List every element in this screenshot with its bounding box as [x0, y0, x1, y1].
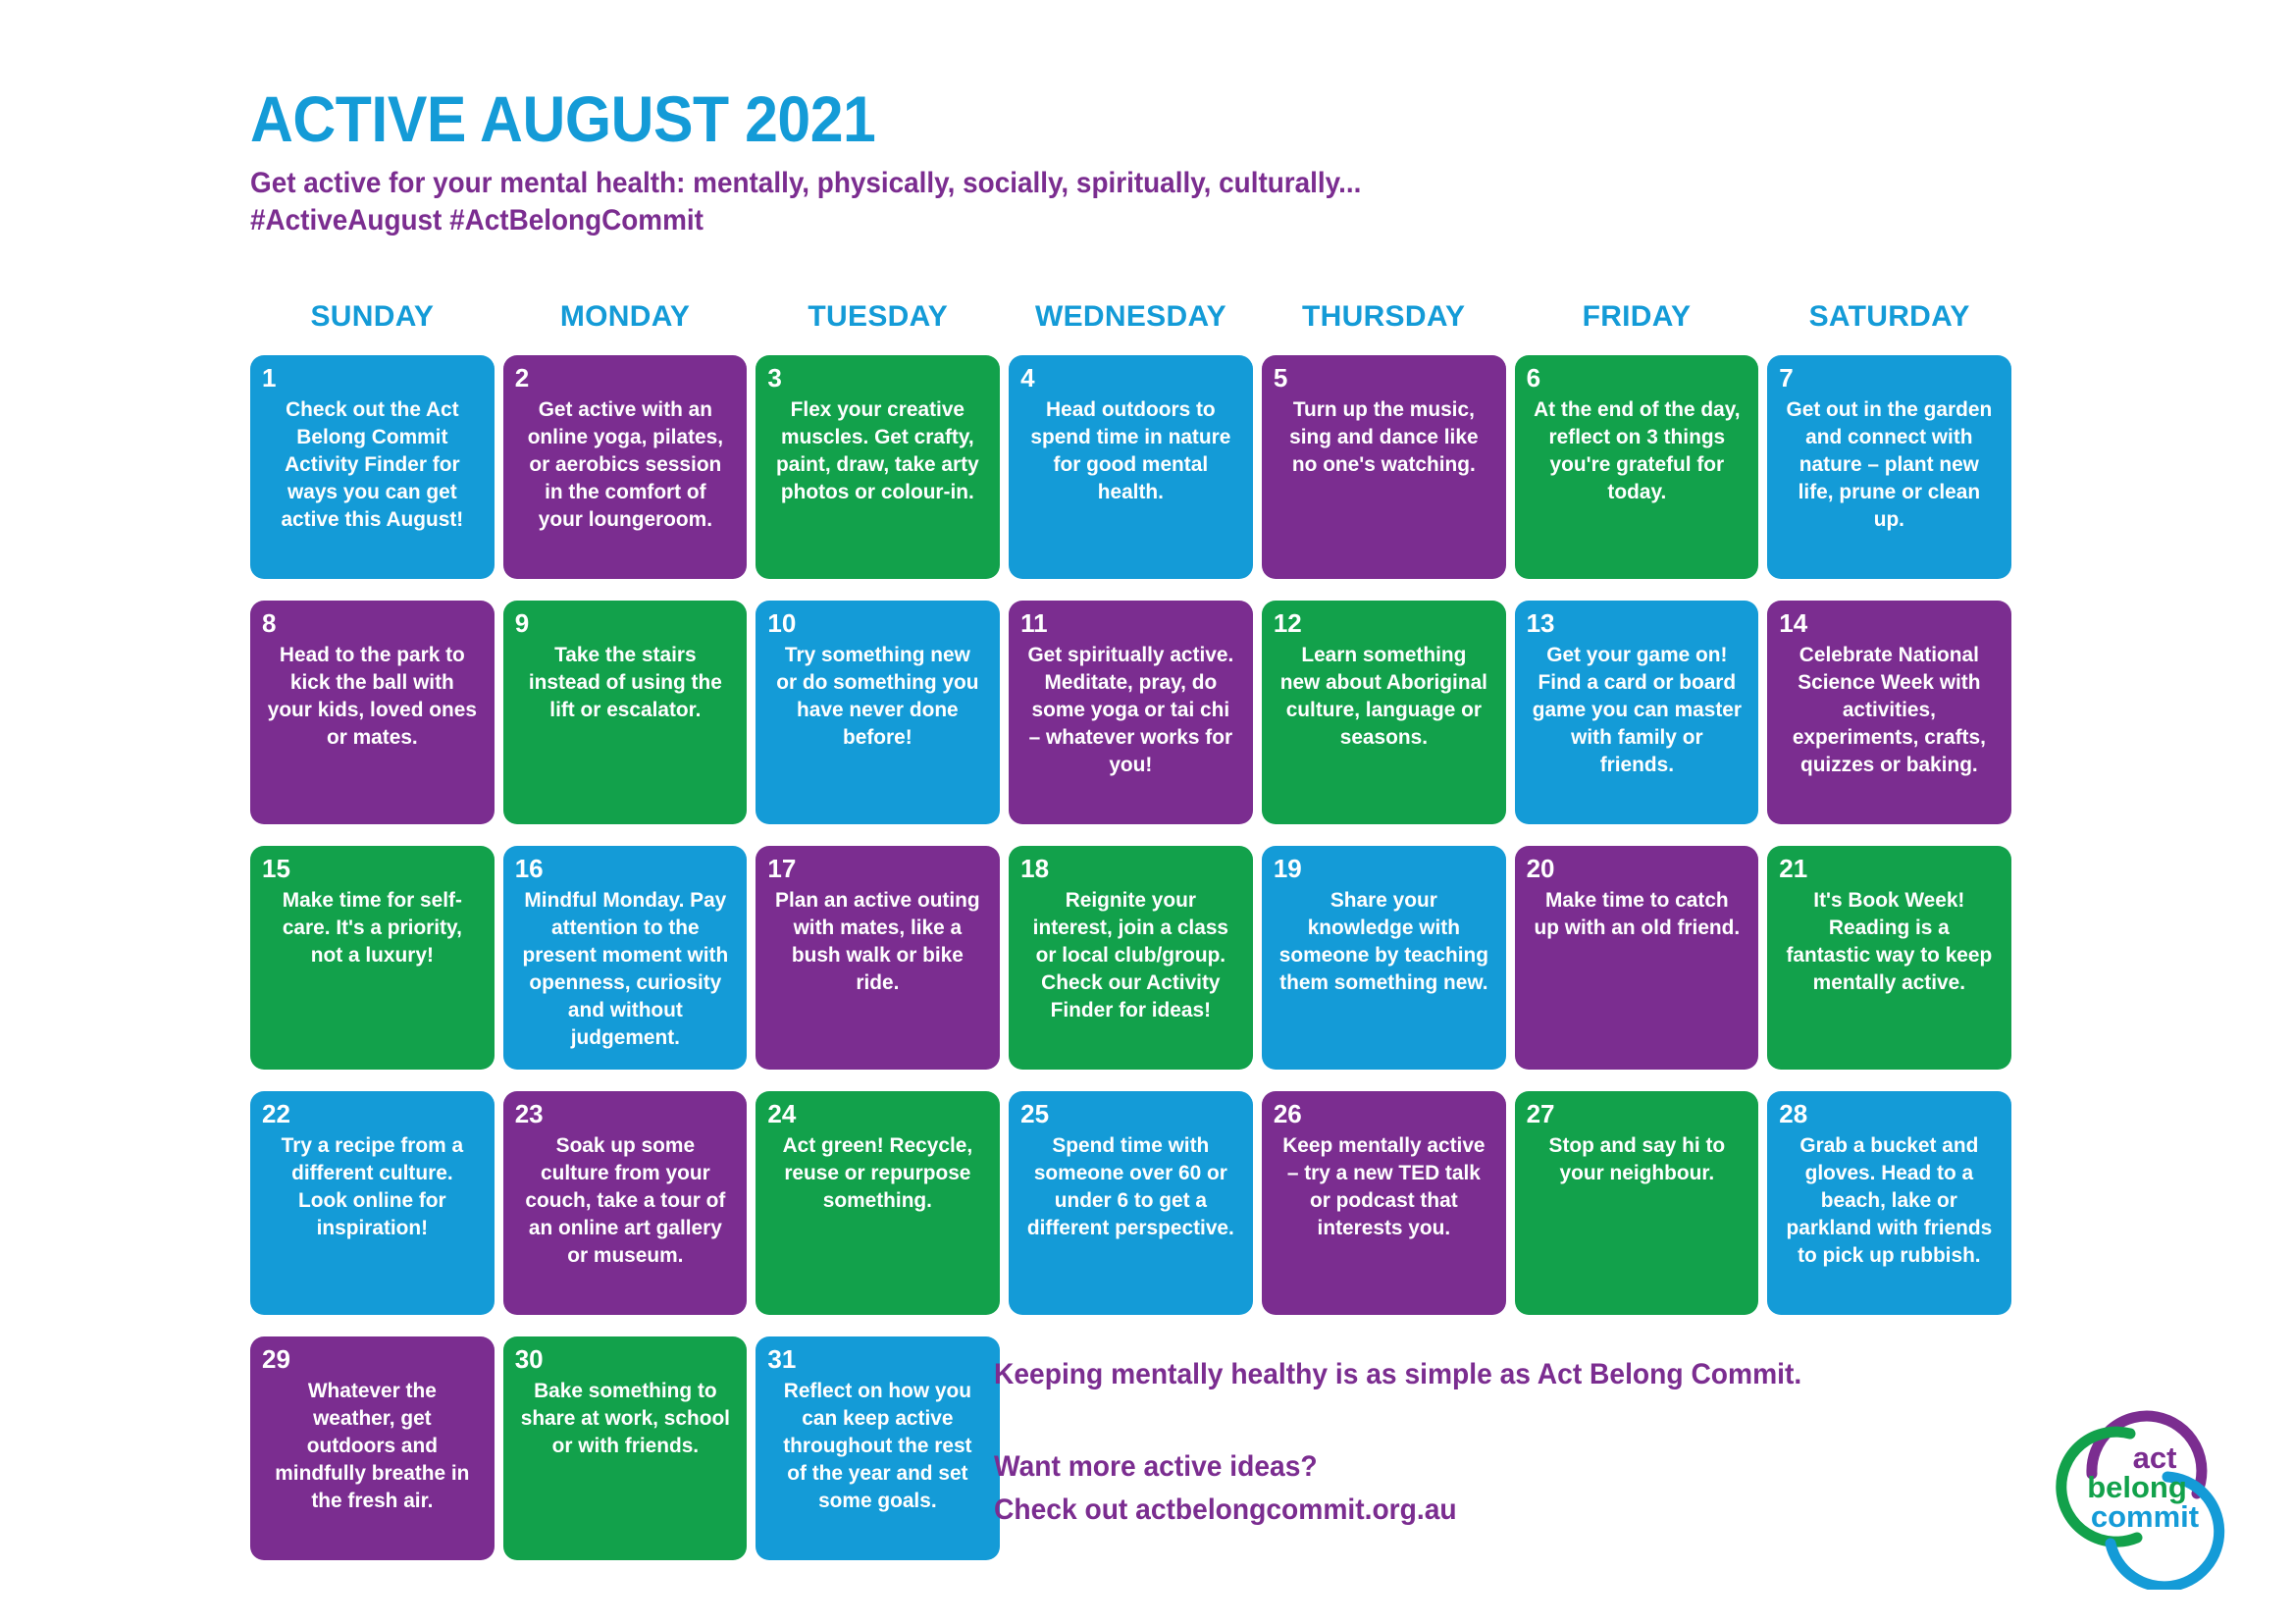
calendar-day-cell[interactable]: 25Spend time with someone over 60 or und…: [1009, 1091, 1253, 1315]
day-activity-text: Head to the park to kick the ball with y…: [265, 642, 479, 752]
weekday-tuesday: TUESDAY: [756, 300, 1000, 334]
day-activity-text: Get your game on! Find a card or board g…: [1530, 642, 1744, 779]
day-activity-text: Plan an active outing with mates, like a…: [771, 887, 985, 997]
day-number: 24: [767, 1101, 988, 1126]
page-title: ACTIVE AUGUST 2021: [250, 86, 1965, 151]
calendar-day-cell[interactable]: 22Try a recipe from a different culture.…: [250, 1091, 495, 1315]
calendar-day-cell[interactable]: 21It's Book Week! Reading is a fantastic…: [1767, 846, 2011, 1070]
day-number: 4: [1020, 365, 1241, 391]
footer-tagline: Keeping mentally healthy is as simple as…: [994, 1357, 1944, 1392]
day-number: 31: [767, 1346, 988, 1372]
calendar-day-cell[interactable]: 8Head to the park to kick the ball with …: [250, 601, 495, 824]
day-activity-text: Act green! Recycle, reuse or repurpose s…: [771, 1132, 985, 1215]
weekday-saturday: SATURDAY: [1767, 300, 2011, 334]
day-number: 29: [262, 1346, 483, 1372]
calendar-day-cell[interactable]: 18Reignite your interest, join a class o…: [1009, 846, 1253, 1070]
calendar-day-cell[interactable]: 20Make time to catch up with an old frie…: [1515, 846, 1759, 1070]
day-number: 18: [1020, 856, 1241, 881]
calendar-day-cell[interactable]: 14Celebrate National Science Week with a…: [1767, 601, 2011, 824]
act-belong-commit-logo: act belong commit: [2039, 1384, 2250, 1590]
footer-question: Want more active ideas?: [994, 1445, 1944, 1489]
calendar-day-cell[interactable]: 26Keep mentally active – try a new TED t…: [1262, 1091, 1506, 1315]
day-number: 8: [262, 610, 483, 636]
day-number: 9: [515, 610, 736, 636]
day-number: 3: [767, 365, 988, 391]
calendar-day-cell[interactable]: 3Flex your creative muscles. Get crafty,…: [756, 355, 1000, 579]
day-activity-text: Celebrate National Science Week with act…: [1783, 642, 1997, 779]
page-subtitle: Get active for your mental health: menta…: [250, 165, 1984, 240]
calendar-day-cell[interactable]: 24Act green! Recycle, reuse or repurpose…: [756, 1091, 1000, 1315]
calendar-day-cell[interactable]: 1Check out the Act Belong Commit Activit…: [250, 355, 495, 579]
day-number: 5: [1274, 365, 1494, 391]
day-activity-text: Try a recipe from a different culture. L…: [265, 1132, 479, 1242]
calendar-day-cell[interactable]: 5Turn up the music, sing and dance like …: [1262, 355, 1506, 579]
day-activity-text: Check out the Act Belong Commit Activity…: [265, 396, 479, 534]
day-number: 14: [1779, 610, 2000, 636]
calendar-day-cell[interactable]: 15Make time for self-care. It's a priori…: [250, 846, 495, 1070]
day-number: 20: [1527, 856, 1747, 881]
day-number: 1: [262, 365, 483, 391]
calendar-day-cell[interactable]: 12Learn something new about Aboriginal c…: [1262, 601, 1506, 824]
day-number: 10: [767, 610, 988, 636]
svg-text:commit: commit: [2091, 1499, 2199, 1534]
day-activity-text: It's Book Week! Reading is a fantastic w…: [1783, 887, 1997, 997]
day-activity-text: Learn something new about Aboriginal cul…: [1277, 642, 1490, 752]
day-activity-text: Try something new or do something you ha…: [771, 642, 985, 752]
poster-canvas: ACTIVE AUGUST 2021 Get active for your m…: [0, 0, 2294, 1624]
footer-message-block: Keeping mentally healthy is as simple as…: [994, 1357, 2005, 1531]
day-number: 19: [1274, 856, 1494, 881]
day-number: 7: [1779, 365, 2000, 391]
calendar-day-cell[interactable]: 13Get your game on! Find a card or board…: [1515, 601, 1759, 824]
weekday-wednesday: WEDNESDAY: [1009, 300, 1253, 334]
weekday-thursday: THURSDAY: [1262, 300, 1506, 334]
calendar-day-cell[interactable]: 23Soak up some culture from your couch, …: [503, 1091, 748, 1315]
calendar-day-cell[interactable]: 17Plan an active outing with mates, like…: [756, 846, 1000, 1070]
day-activity-text: Reflect on how you can keep active throu…: [771, 1378, 985, 1515]
day-activity-text: Keep mentally active – try a new TED tal…: [1277, 1132, 1490, 1242]
calendar-day-cell[interactable]: 7Get out in the garden and connect with …: [1767, 355, 2011, 579]
day-number: 16: [515, 856, 736, 881]
calendar-day-cell[interactable]: 10Try something new or do something you …: [756, 601, 1000, 824]
weekday-sunday: SUNDAY: [250, 300, 495, 334]
calendar-day-cell[interactable]: 2Get active with an online yoga, pilates…: [503, 355, 748, 579]
calendar-day-cell[interactable]: 28Grab a bucket and gloves. Head to a be…: [1767, 1091, 2011, 1315]
footer-website[interactable]: Check out actbelongcommit.org.au: [994, 1489, 1944, 1532]
day-activity-text: Get out in the garden and connect with n…: [1783, 396, 1997, 534]
day-activity-text: Soak up some culture from your couch, ta…: [518, 1132, 732, 1270]
calendar-day-cell[interactable]: 31Reflect on how you can keep active thr…: [756, 1336, 1000, 1560]
day-activity-text: Make time for self-care. It's a priority…: [265, 887, 479, 969]
day-activity-text: Spend time with someone over 60 or under…: [1024, 1132, 1238, 1242]
day-activity-text: Mindful Monday. Pay attention to the pre…: [518, 887, 732, 1052]
calendar-day-cell[interactable]: 30Bake something to share at work, schoo…: [503, 1336, 748, 1560]
day-number: 22: [262, 1101, 483, 1126]
calendar-day-cell[interactable]: 11Get spiritually active. Meditate, pray…: [1009, 601, 1253, 824]
calendar-day-cell[interactable]: 9Take the stairs instead of using the li…: [503, 601, 748, 824]
subtitle-line-1: Get active for your mental health: menta…: [250, 167, 1361, 199]
calendar-day-cell[interactable]: 16Mindful Monday. Pay attention to the p…: [503, 846, 748, 1070]
day-activity-text: Get active with an online yoga, pilates,…: [518, 396, 732, 534]
weekday-friday: FRIDAY: [1515, 300, 1759, 334]
day-number: 26: [1274, 1101, 1494, 1126]
weekday-monday: MONDAY: [503, 300, 748, 334]
day-number: 25: [1020, 1101, 1241, 1126]
day-activity-text: At the end of the day, reflect on 3 thin…: [1530, 396, 1744, 506]
day-number: 21: [1779, 856, 2000, 881]
day-activity-text: Stop and say hi to your neighbour.: [1530, 1132, 1744, 1187]
day-number: 6: [1527, 365, 1747, 391]
day-activity-text: Flex your creative muscles. Get crafty, …: [771, 396, 985, 506]
day-activity-text: Head outdoors to spend time in nature fo…: [1024, 396, 1238, 506]
weekday-header-row: SUNDAY MONDAY TUESDAY WEDNESDAY THURSDAY…: [250, 300, 2011, 334]
calendar-day-cell[interactable]: 29Whatever the weather, get outdoors and…: [250, 1336, 495, 1560]
calendar-day-cell[interactable]: 27Stop and say hi to your neighbour.: [1515, 1091, 1759, 1315]
day-number: 12: [1274, 610, 1494, 636]
day-activity-text: Get spiritually active. Meditate, pray, …: [1024, 642, 1238, 779]
day-number: 28: [1779, 1101, 2000, 1126]
day-number: 23: [515, 1101, 736, 1126]
day-number: 13: [1527, 610, 1747, 636]
calendar-day-cell[interactable]: 4Head outdoors to spend time in nature f…: [1009, 355, 1253, 579]
day-number: 27: [1527, 1101, 1747, 1126]
day-number: 30: [515, 1346, 736, 1372]
day-number: 15: [262, 856, 483, 881]
day-activity-text: Grab a bucket and gloves. Head to a beac…: [1783, 1132, 1997, 1270]
day-number: 17: [767, 856, 988, 881]
day-activity-text: Turn up the music, sing and dance like n…: [1277, 396, 1490, 479]
day-activity-text: Make time to catch up with an old friend…: [1530, 887, 1744, 942]
day-activity-text: Bake something to share at work, school …: [518, 1378, 732, 1460]
day-number: 11: [1020, 610, 1241, 636]
day-number: 2: [515, 365, 736, 391]
poster-header: ACTIVE AUGUST 2021 Get active for your m…: [250, 86, 2114, 240]
subtitle-hashtags: #ActiveAugust #ActBelongCommit: [250, 202, 1984, 239]
day-activity-text: Reignite your interest, join a class or …: [1024, 887, 1238, 1024]
calendar-day-cell[interactable]: 19Share your knowledge with someone by t…: [1262, 846, 1506, 1070]
day-activity-text: Whatever the weather, get outdoors and m…: [265, 1378, 479, 1515]
calendar-day-cell[interactable]: 6At the end of the day, reflect on 3 thi…: [1515, 355, 1759, 579]
day-activity-text: Share your knowledge with someone by tea…: [1277, 887, 1490, 997]
day-activity-text: Take the stairs instead of using the lif…: [518, 642, 732, 724]
